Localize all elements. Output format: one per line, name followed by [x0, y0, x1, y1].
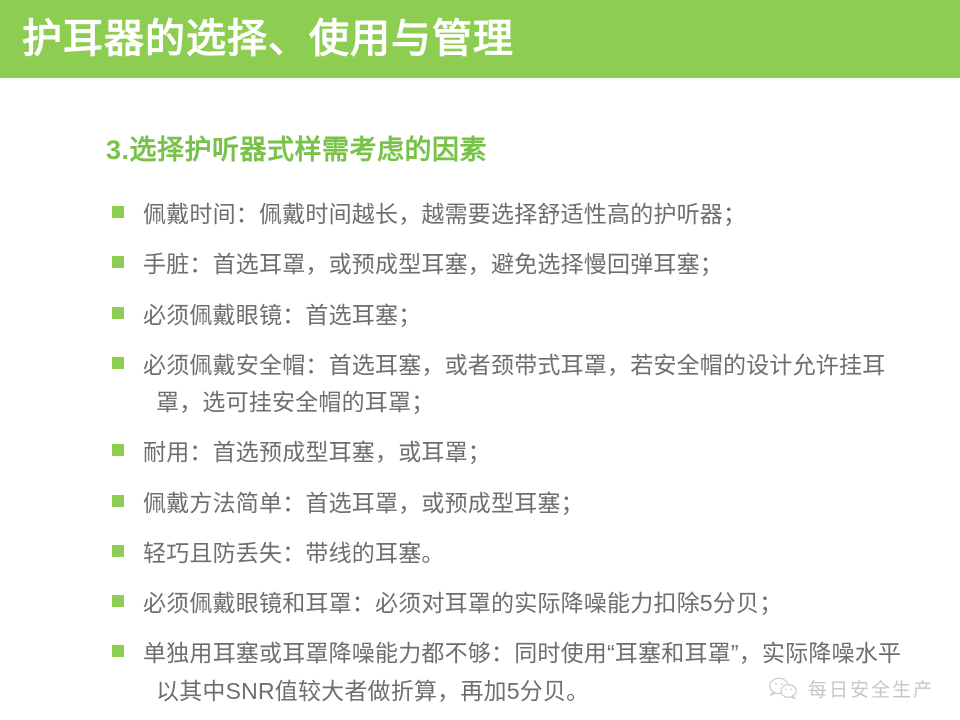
square-bullet-icon: [112, 256, 124, 268]
list-item: 耐用：首选预成型耳塞，或耳罩；: [112, 434, 912, 471]
slide-canvas: 护耳器的选择、使用与管理 3.选择护听器式样需考虑的因素 佩戴时间：佩戴时间越长…: [0, 0, 960, 720]
watermark-label: 每日安全生产: [808, 675, 934, 702]
list-item-text: 必须佩戴眼镜和耳罩：必须对耳罩的实际降噪能力扣除5分贝；: [143, 585, 912, 622]
square-bullet-icon: [112, 545, 124, 557]
list-item-text: 必须佩戴眼镜：首选耳塞；: [143, 297, 912, 334]
list-item: 轻巧且防丢失：带线的耳塞。: [112, 535, 912, 572]
list-item-text: 轻巧且防丢失：带线的耳塞。: [143, 535, 912, 572]
square-bullet-icon: [112, 595, 124, 607]
list-item-text: 佩戴方法简单：首选耳罩，或预成型耳塞；: [143, 485, 912, 522]
list-item-text: 耐用：首选预成型耳塞，或耳罩；: [143, 434, 912, 471]
list-item: 手脏：首选耳罩，或预成型耳塞，避免选择慢回弹耳塞；: [112, 246, 912, 283]
page-title: 护耳器的选择、使用与管理: [22, 19, 514, 59]
list-item-text: 佩戴时间：佩戴时间越长，越需要选择舒适性高的护听器；: [143, 196, 912, 233]
list-item: 佩戴方法简单：首选耳罩，或预成型耳塞；: [112, 485, 912, 522]
square-bullet-icon: [112, 645, 124, 657]
square-bullet-icon: [112, 495, 124, 507]
square-bullet-icon: [112, 444, 124, 456]
list-item-text: 必须佩戴安全帽：首选耳塞，或者颈带式耳罩，若安全帽的设计允许挂耳罩，选可挂安全帽…: [143, 347, 912, 422]
list-item: 必须佩戴眼镜：首选耳塞；: [112, 297, 912, 334]
section-heading: 3.选择护听器式样需考虑的因素: [106, 134, 487, 166]
bullet-list: 佩戴时间：佩戴时间越长，越需要选择舒适性高的护听器； 手脏：首选耳罩，或预成型耳…: [112, 196, 912, 720]
square-bullet-icon: [112, 357, 124, 369]
list-item: 必须佩戴眼镜和耳罩：必须对耳罩的实际降噪能力扣除5分贝；: [112, 585, 912, 622]
square-bullet-icon: [112, 206, 124, 218]
square-bullet-icon: [112, 307, 124, 319]
slide-title-band: 护耳器的选择、使用与管理: [0, 0, 960, 78]
list-item: 佩戴时间：佩戴时间越长，越需要选择舒适性高的护听器；: [112, 196, 912, 233]
watermark: 每日安全生产: [768, 675, 934, 702]
list-item-text: 手脏：首选耳罩，或预成型耳塞，避免选择慢回弹耳塞；: [143, 246, 912, 283]
wechat-icon: [768, 676, 798, 702]
list-item: 必须佩戴安全帽：首选耳塞，或者颈带式耳罩，若安全帽的设计允许挂耳罩，选可挂安全帽…: [112, 347, 912, 422]
